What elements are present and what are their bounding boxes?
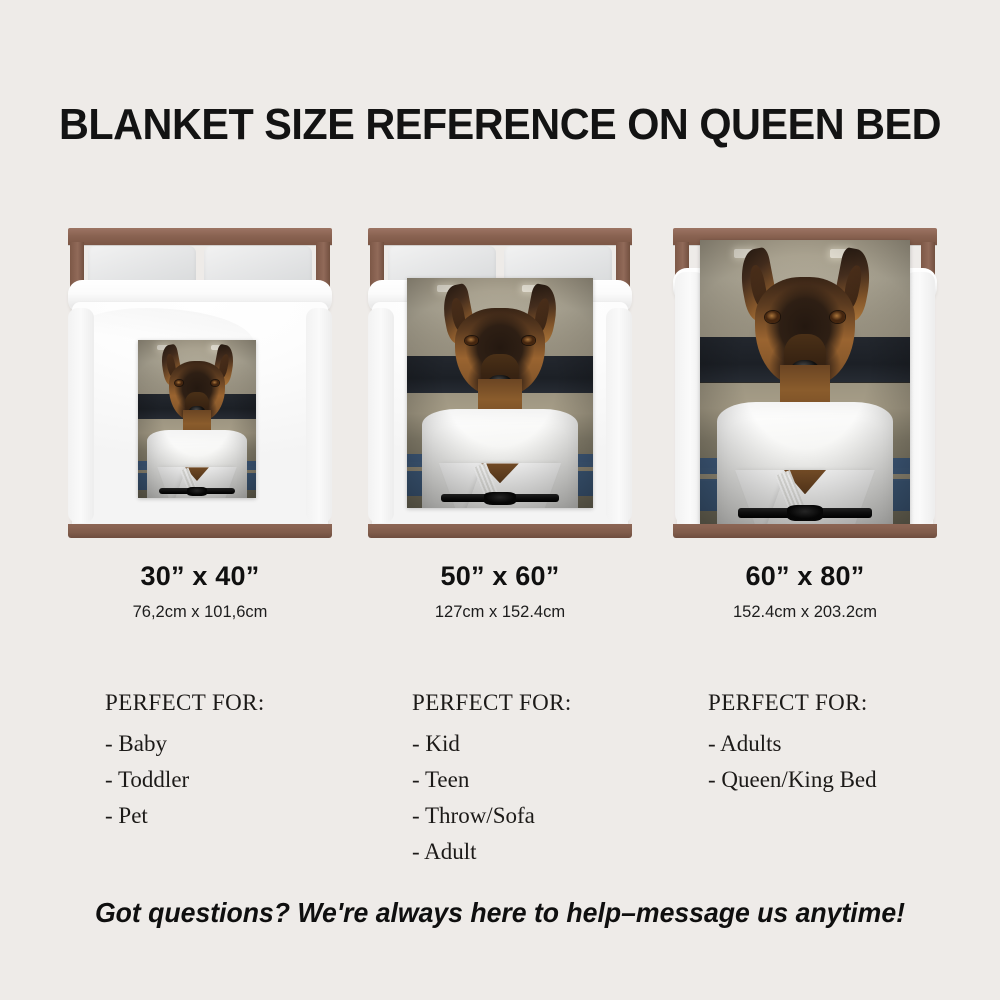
- queen-bed-illustration: [360, 228, 640, 553]
- size-label-block: 30” x 40” 76,2cm x 101,6cm: [55, 561, 345, 622]
- list-item: - Teen: [412, 762, 572, 798]
- blanket-artwork-medium: [407, 278, 593, 508]
- duvet-side-right: [606, 308, 632, 523]
- duvet-side-left: [68, 308, 94, 523]
- size-centimeters: 152.4cm x 203.2cm: [655, 603, 955, 622]
- dojo-scene: [138, 340, 256, 498]
- list-item: - Adults: [708, 726, 877, 762]
- list-item: - Kid: [412, 726, 572, 762]
- duvet-side-left: [368, 308, 394, 523]
- perfect-for-list-50x60: PERFECT FOR: - Kid - Teen - Throw/Sofa -…: [412, 690, 572, 870]
- size-label-block: 60” x 80” 152.4cm x 203.2cm: [655, 561, 955, 622]
- blanket-artwork-small: [138, 340, 256, 498]
- footboard: [368, 524, 632, 538]
- list-item: - Adult: [412, 834, 572, 870]
- queen-bed-illustration: [665, 228, 945, 553]
- perfect-for-title: PERFECT FOR:: [105, 690, 265, 716]
- size-centimeters: 127cm x 152.4cm: [345, 603, 655, 622]
- headboard: [368, 228, 632, 245]
- list-item: - Toddler: [105, 762, 265, 798]
- support-message: Got questions? We're always here to help…: [25, 897, 975, 929]
- dojo-scene: [407, 278, 593, 508]
- list-item: - Baby: [105, 726, 265, 762]
- footboard: [68, 524, 332, 538]
- photo-vignette: [138, 340, 256, 498]
- perfect-for-list-30x40: PERFECT FOR: - Baby - Toddler - Pet: [105, 690, 265, 834]
- perfect-for-list-60x80: PERFECT FOR: - Adults - Queen/King Bed: [708, 690, 877, 798]
- headboard: [68, 228, 332, 245]
- size-comparison-row: 30” x 40” 76,2cm x 101,6cm: [0, 228, 1000, 648]
- list-item: - Pet: [105, 798, 265, 834]
- photo-vignette: [407, 278, 593, 508]
- size-label-block: 50” x 60” 127cm x 152.4cm: [345, 561, 655, 622]
- queen-bed-illustration: [60, 228, 340, 553]
- photo-vignette: [700, 240, 910, 525]
- size-inches: 30” x 40”: [55, 561, 345, 592]
- page-title: BLANKET SIZE REFERENCE ON QUEEN BED: [30, 100, 970, 150]
- perfect-for-title: PERFECT FOR:: [708, 690, 877, 716]
- footboard: [673, 524, 937, 538]
- perfect-for-title: PERFECT FOR:: [412, 690, 572, 716]
- size-inches: 60” x 80”: [655, 561, 955, 592]
- blanket-artwork-large: [700, 240, 910, 525]
- list-item: - Queen/King Bed: [708, 762, 877, 798]
- dojo-scene: [700, 240, 910, 525]
- list-item: - Throw/Sofa: [412, 798, 572, 834]
- size-centimeters: 76,2cm x 101,6cm: [55, 603, 345, 622]
- size-inches: 50” x 60”: [345, 561, 655, 592]
- duvet-side-right: [306, 308, 332, 523]
